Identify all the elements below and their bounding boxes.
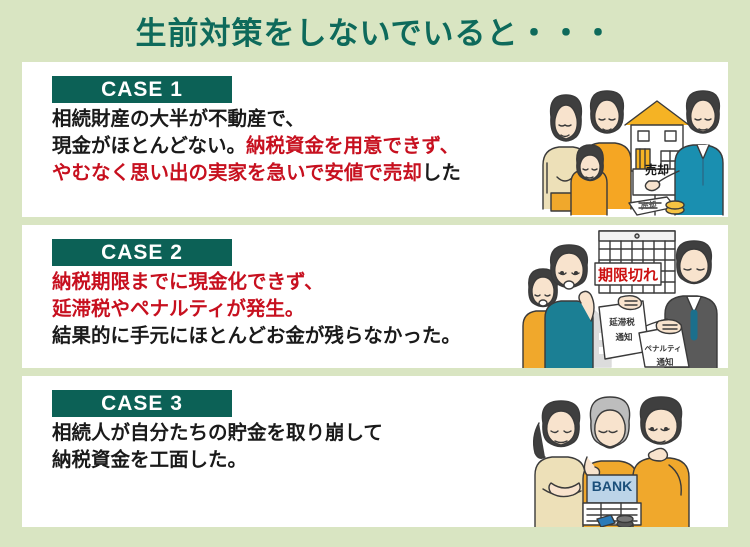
case-1-line-2-seg-2: 納税資金を用意できず、 <box>246 135 459 157</box>
penalty-label: ペナルティ <box>644 344 681 353</box>
case-1-badge: CASE 1 <box>52 76 232 103</box>
man-figure <box>545 245 594 368</box>
expired-label: 期限切れ <box>598 266 658 284</box>
case-1-line-3-seg-1: やむなく思い出の実家を急いで安値で売却 <box>52 162 422 184</box>
for-sale-sign-label-1: 売却 <box>645 162 669 177</box>
daughter-figure <box>534 401 585 527</box>
coins-icon <box>666 201 684 214</box>
case-2-line-2-seg-1: 延滞税やペナルティが発生。 <box>52 298 304 320</box>
case-card-2: CASE 2 納税期限までに現金化できず、 延滞税やペナルティが発生。 結果的に… <box>22 225 728 368</box>
family-selling-house-illustration: 売却 売却 <box>521 67 726 217</box>
case-3-illustration: BANK <box>523 376 728 527</box>
case-1-illustration: 売却 売却 <box>523 62 728 217</box>
case-3-line-1: 相続人が自分たちの貯金を取り崩して <box>52 420 523 447</box>
delinquent-tax-label: 延滞税 <box>608 317 635 327</box>
penalty-notice-label: 通知 <box>656 357 673 367</box>
delinquent-notice-label: 通知 <box>615 332 632 342</box>
hand-icon-1 <box>618 296 641 310</box>
case-card-list: CASE 1 相続財産の大半が不動産で、 現金がほとんどない。納税資金を用意でき… <box>0 62 750 527</box>
child-figure <box>571 145 607 215</box>
case-2-text-block: CASE 2 納税期限までに現金化できず、 延滞税やペナルティが発生。 結果的に… <box>22 225 523 350</box>
case-2-line-2: 延滞税やペナルティが発生。 <box>52 296 523 323</box>
case-card-3: CASE 3 相続人が自分たちの貯金を取り崩して 納税資金を工面した。 <box>22 376 728 527</box>
case-2-line-3: 結果的に手元にほとんどお金が残らなかった。 <box>52 323 523 350</box>
case-2-lines: 納税期限までに現金化できず、 延滞税やペナルティが発生。 結果的に手元にほとんど… <box>52 269 523 350</box>
case-2-line-1-seg-1: 納税期限までに現金化できず、 <box>52 271 324 293</box>
case-3-lines: 相続人が自分たちの貯金を取り崩して 納税資金を工面した。 <box>52 420 523 474</box>
case-1-text-block: CASE 1 相続財産の大半が不動産で、 現金がほとんどない。納税資金を用意でき… <box>22 62 523 187</box>
case-1-line-3: やむなく思い出の実家を急いで安値で売却した <box>52 160 523 187</box>
family-bank-passbook-illustration: BANK <box>521 379 726 527</box>
case-3-text-block: CASE 3 相続人が自分たちの貯金を取り崩して 納税資金を工面した。 <box>22 376 523 474</box>
case-1-line-1-seg-1: 相続財産の大半が不動産で、 <box>52 108 305 130</box>
case-3-line-2-seg-1: 納税資金を工面した。 <box>52 449 247 471</box>
case-1-line-3-seg-2: した <box>422 162 461 184</box>
case-3-line-1-seg-1: 相続人が自分たちの貯金を取り崩して <box>52 422 383 444</box>
overdue-tax-notice-illustration: 期限切れ 延滞税 通知 ペナルティ 通知 <box>521 225 726 368</box>
case-1-lines: 相続財産の大半が不動産で、 現金がほとんどない。納税資金を用意できず、 やむなく… <box>52 106 523 187</box>
case-2-illustration: 期限切れ 延滞税 通知 ペナルティ 通知 <box>523 225 728 368</box>
case-3-badge: CASE 3 <box>52 390 232 417</box>
bank-label: BANK <box>592 478 632 494</box>
coins-icon <box>617 516 633 528</box>
case-2-line-1: 納税期限までに現金化できず、 <box>52 269 523 296</box>
hand-icon-2 <box>656 320 681 334</box>
page-title: 生前対策をしないでいると・・・ <box>0 0 750 62</box>
case-1-line-2-seg-1: 現金がほとんどない。 <box>52 135 246 157</box>
case-2-badge: CASE 2 <box>52 239 232 266</box>
case-1-line-2: 現金がほとんどない。納税資金を用意できず、 <box>52 133 523 160</box>
case-2-line-3-seg-1: 結果的に手元にほとんどお金が残らなかった。 <box>52 325 461 347</box>
case-1-line-1: 相続財産の大半が不動産で、 <box>52 106 523 133</box>
case-card-1: CASE 1 相続財産の大半が不動産で、 現金がほとんどない。納税資金を用意でき… <box>22 62 728 217</box>
case-3-line-2: 納税資金を工面した。 <box>52 447 523 474</box>
